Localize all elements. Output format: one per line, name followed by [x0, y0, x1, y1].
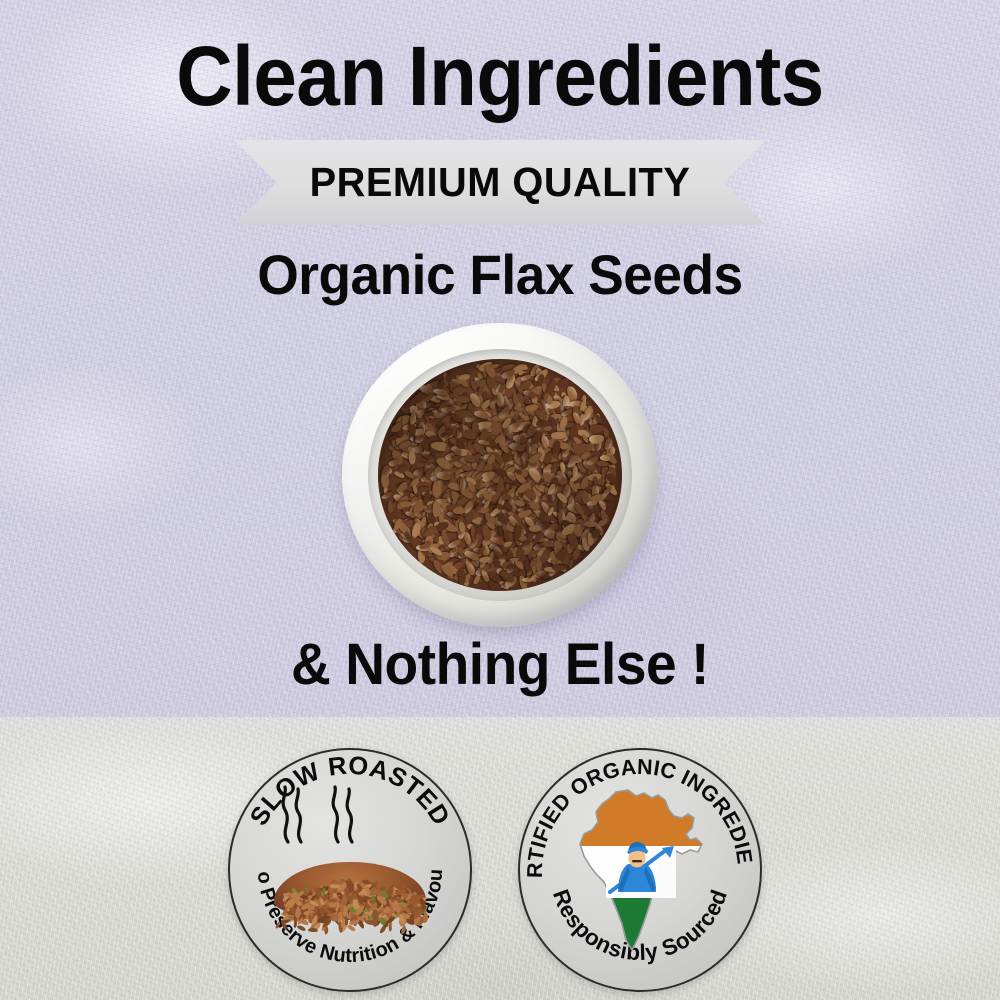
- badge-slow-roasted: SLOW ROASTED To Preserve Nutrition & Fla…: [228, 748, 472, 992]
- product-subtitle: Organic Flax Seeds: [25, 243, 975, 307]
- badge-certified-organic: CERTIFIED ORGANIC INGREDIENTS Responsibl…: [518, 748, 762, 992]
- ribbon-label: PREMIUM QUALITY: [242, 140, 758, 225]
- page-title: Clean Ingredients: [35, 28, 965, 124]
- flax-seed-bowl-image: [320, 305, 680, 640]
- bottom-background-panel: [0, 717, 1000, 1000]
- roasted-seed-pile-icon: [266, 840, 434, 926]
- india-map-farmer-icon: [570, 788, 712, 956]
- premium-quality-ribbon: PREMIUM QUALITY: [234, 140, 766, 225]
- bowl-seed-fill: [378, 359, 622, 591]
- steam-wisps-icon: [272, 782, 372, 846]
- product-poster: Clean Ingredients PREMIUM QUALITY Organi…: [0, 0, 1000, 1000]
- product-tagline: & Nothing Else !: [25, 632, 975, 698]
